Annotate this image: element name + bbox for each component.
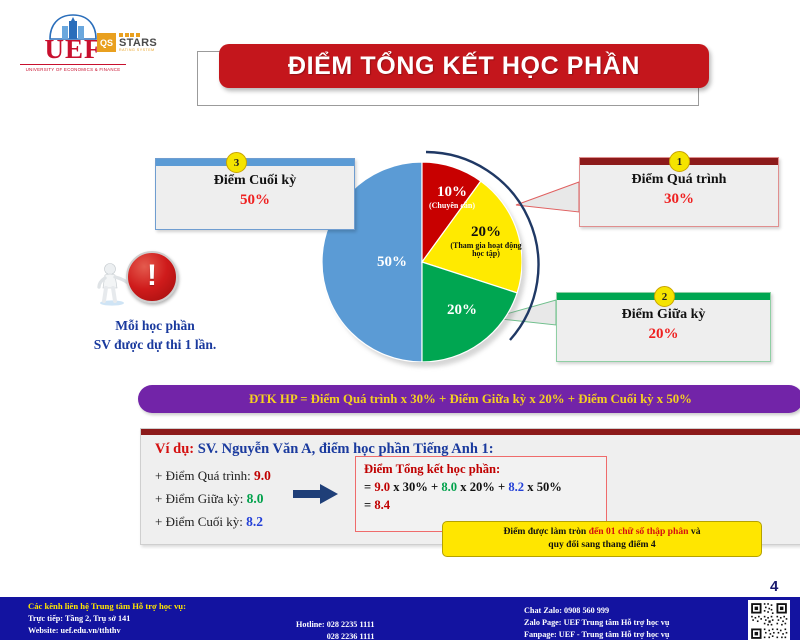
slide-root: UEF UNIVERSITY OF ECONOMICS & FINANCE QS… [0,0,800,640]
result-final-line: = 8.4 [364,498,606,513]
callout-3-accent-bar [156,159,354,166]
note-line-2: quy đổi sang thang điểm 4 [548,539,655,552]
qs-stars-badge: QS STARS RATING SYSTEM [97,33,157,53]
pie-label-yellow: 20% (Tham gia hoạt động học tập) [450,224,522,259]
footer-hotline-line-1: Hotline: 028 2235 1111 [296,619,374,631]
result-value-3: 8.2 [508,480,524,494]
qs-subtitle: RATING SYSTEM [119,49,157,53]
uef-tagline: UNIVERSITY OF ECONOMICS & FINANCE [20,64,126,72]
page-number: 4 [770,578,778,595]
warning-figure: ! [95,248,170,310]
list-item: + Điểm Giữa kỳ: 8.0 [155,491,271,507]
qr-code-icon[interactable] [748,600,790,642]
example-accent-bar [141,429,800,435]
footer-left-line-2: Website: uef.edu.vn/tththv [28,625,130,637]
footer-fanpage: Fanpage: UEF - Trung tâm Hỗ trợ học vụ [524,629,669,641]
callout-3-percent: 50% [156,192,354,209]
pie-label-red: 10% (Chuyên cần) [424,184,480,210]
pie-label-blue: 50% [357,254,427,271]
footer-bar: Các kênh liên hệ Trung tâm Hỗ trợ học vụ… [0,597,800,640]
result-mult-3: x 50% [524,480,562,494]
callout-1-title: Điểm Quá trình [580,172,778,188]
person-icon [95,262,131,306]
footer-hotline-line-2: 028 2236 1111 [296,631,374,642]
warning-line-2: SV được dự thi 1 lần. [40,335,270,354]
list-item: + Điểm Cuối kỳ: 8.2 [155,514,271,530]
result-final-value: 8.4 [374,498,390,512]
list-item: + Điểm Quá trình: 9.0 [155,468,271,484]
example-label: Ví dụ: [155,441,194,457]
footer-heading: Các kênh liên hệ Trung tâm Hỗ trợ học vụ… [28,601,186,611]
callout-2-title: Điểm Giữa kỳ [557,307,770,323]
row-3-value: 8.2 [246,514,263,529]
note-line-1: Điểm được làm tròn đến 01 chữ số thập ph… [503,526,700,539]
formula-text: ĐTK HP = Điểm Quá trình x 30% + Điểm Giữ… [249,392,692,407]
result-title: Điểm Tổng kết học phần: [364,462,606,477]
row-1-value: 9.0 [254,468,271,483]
example-score-list: + Điểm Quá trình: 9.0 + Điểm Giữa kỳ: 8.… [155,468,271,537]
rounding-note-bubble: Điểm được làm tròn đến 01 chữ số thập ph… [442,521,762,557]
footer-zalo: Chat Zalo: 0908 560 999 [524,605,669,617]
footer-social: Chat Zalo: 0908 560 999 Zalo Page: UEF T… [524,605,669,641]
callout-3-number-badge: 3 [226,152,247,173]
page-title-text: ĐIỂM TỔNG KẾT HỌC PHẦN [288,52,640,81]
result-mult-2: x 20% + [457,480,508,494]
callout-diem-cuoi-ky[interactable]: Điểm Cuối kỳ 50% [155,158,355,230]
note-1b: và [689,526,701,537]
row-3-label: + Điểm Cuối kỳ: [155,514,243,529]
callout-1-number-badge: 1 [669,151,690,172]
note-1-highlight: đến 01 chữ số thập phân [589,526,689,537]
page-title: ĐIỂM TỔNG KẾT HỌC PHẦN [219,44,709,88]
callout-2-percent: 20% [557,326,770,343]
note-1a: Điểm được làm tròn [503,526,588,537]
example-heading-text: SV. Nguyễn Văn A, điểm học phần Tiếng An… [198,441,494,457]
callout-1-percent: 30% [580,191,778,208]
arrow-right-icon [293,484,339,504]
row-1-label: + Điểm Quá trình: [155,468,251,483]
row-2-label: + Điểm Giữa kỳ: [155,491,243,506]
footer-hotline: Hotline: 028 2235 1111 028 2236 1111 [296,619,374,642]
warning-line-1: Mỗi học phần [40,316,270,335]
callout-2-number-badge: 2 [654,286,675,307]
result-value-1: 9.0 [374,480,390,494]
result-value-2: 8.0 [441,480,457,494]
result-final-prefix: = [364,498,374,512]
result-calc-prefix: = [364,480,374,494]
result-mult-1: x 30% + [390,480,441,494]
footer-left: Trực tiếp: Tầng 2, Trụ sở 141 Website: u… [28,613,130,636]
exclamation-icon: ! [126,251,178,303]
row-2-value: 8.0 [247,491,264,506]
formula-bar: ĐTK HP = Điểm Quá trình x 30% + Điểm Giữ… [138,385,800,413]
qs-mark: QS [97,33,116,52]
result-calculation: = 9.0 x 30% + 8.0 x 20% + 8.2 x 50% [364,480,606,495]
callout-3-title: Điểm Cuối kỳ [156,173,354,189]
footer-zalo-page: Zalo Page: UEF Trung tâm Hỗ trợ học vụ [524,617,669,629]
warning-note: Mỗi học phần SV được dự thi 1 lần. [40,316,270,354]
footer-left-line-1: Trực tiếp: Tầng 2, Trụ sở 141 [28,613,130,625]
pie-label-green: 20% [432,302,492,319]
